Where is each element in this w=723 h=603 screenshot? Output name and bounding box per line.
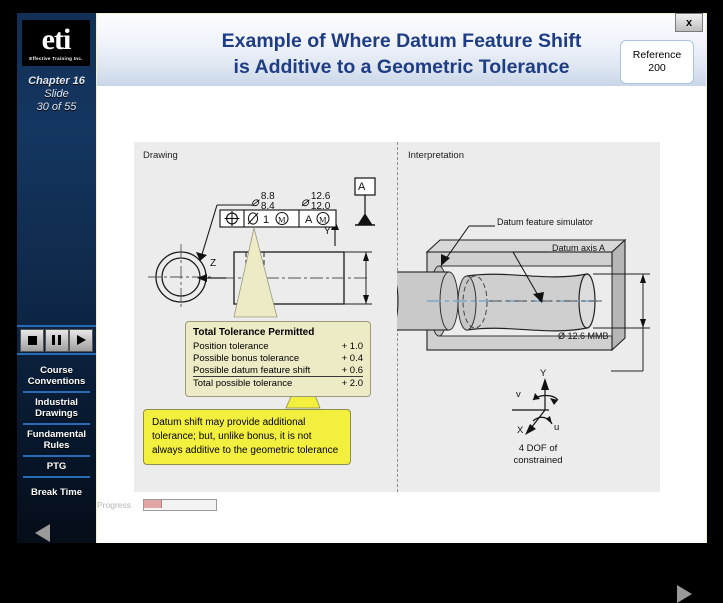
sidebar-item-ptg[interactable]: PTG [17, 457, 96, 478]
tolerance-value: + 0.4 [323, 352, 363, 364]
tolerance-label: Possible bonus tolerance [193, 352, 323, 364]
diameter-symbol-icon: ⌀ [301, 194, 309, 210]
callout-datum-feature-simulator: Datum feature simulator [497, 217, 593, 227]
chapter-info: Chapter 16 Slide 30 of 55 [17, 75, 96, 114]
total-tolerance-callout: Total Tolerance Permitted Position toler… [185, 321, 371, 397]
pause-icon [52, 335, 61, 345]
diameter-symbol-icon: ⌀ [251, 194, 259, 210]
slide-position: 30 of 55 [17, 101, 96, 114]
play-icon [77, 335, 86, 345]
sidebar-item-course-conventions[interactable]: Course Conventions [17, 361, 96, 393]
play-button[interactable] [69, 329, 93, 352]
progress-area: Progress [97, 500, 706, 514]
chapter-label: Chapter 16 [17, 75, 96, 88]
eti-logo: eti Effective Training Inc. [22, 20, 90, 66]
interpretation-view [397, 142, 660, 492]
slide-header: Example of Where Datum Feature Shift is … [97, 14, 706, 87]
tolerance-value: + 0.6 [323, 364, 363, 377]
sidebar-item-label: PTG [17, 457, 96, 476]
dof-caption: 4 DOF of constrained [488, 443, 588, 467]
datum-feature-label-a: A [358, 181, 365, 193]
table-row: Possible datum feature shift + 0.6 [193, 364, 363, 377]
datum-shift-note: Datum shift may provide additional toler… [143, 409, 351, 465]
tolerance-total-label: Total possible tolerance [193, 377, 323, 390]
sidebar-item-industrial-drawings[interactable]: Industrial Drawings [17, 393, 96, 425]
sidebar-item-label: Industrial Drawings [17, 393, 96, 423]
tolerance-total-value: + 2.0 [323, 377, 363, 390]
slide-body: Drawing Interpretation [97, 86, 706, 543]
divider [23, 476, 90, 478]
transport-controls [17, 325, 96, 355]
sidebar-item-label: Fundamental Rules [17, 425, 96, 455]
table-row: Possible bonus tolerance + 0.4 [193, 352, 363, 364]
page-title: Example of Where Datum Feature Shift is … [97, 28, 706, 80]
stop-icon [28, 336, 37, 345]
reference-badge[interactable]: Reference 200 [620, 40, 694, 84]
callout-datum-axis-a: Datum axis A [552, 243, 605, 253]
sidebar: eti Effective Training Inc. Chapter 16 S… [17, 13, 97, 543]
tolerance-label: Position tolerance [193, 340, 323, 352]
hole-diameter-dimension: ⌀ 8.8 8.4 [251, 192, 275, 212]
previous-slide-arrow-icon[interactable] [35, 524, 50, 542]
close-button[interactable]: x [675, 13, 703, 32]
leader-arrowhead [196, 252, 207, 261]
axis-label-z: Z [210, 258, 216, 269]
dof-caption-line-2: constrained [488, 455, 588, 467]
dof-caption-line-1: 4 DOF of [488, 443, 588, 455]
dof-axis-label-v: v [516, 389, 521, 400]
tolerance-label: Possible datum feature shift [193, 364, 323, 377]
dof-axis-label-y: Y [540, 368, 546, 379]
svg-text:1: 1 [263, 214, 269, 226]
dof-axis-label-x: X [517, 425, 523, 436]
next-slide-arrow-icon[interactable] [677, 585, 692, 603]
progress-fill [144, 500, 162, 508]
sidebar-item-fundamental-rules[interactable]: Fundamental Rules [17, 425, 96, 457]
slide-word: Slide [17, 88, 96, 101]
title-line-1: Example of Where Datum Feature Shift [97, 28, 706, 54]
svg-text:M: M [319, 215, 327, 225]
callout-heading: Total Tolerance Permitted [193, 327, 363, 338]
sidebar-item-break-time[interactable]: Break Time [17, 483, 96, 502]
svg-text:M: M [278, 215, 286, 225]
shaft-diameter-dimension: ⌀ 12.6 12.0 [301, 192, 330, 212]
progress-label: Progress [97, 500, 131, 510]
mmb-dimension-label: Ø 12.6 MMB [558, 331, 609, 341]
reference-label: Reference [633, 49, 681, 62]
toleranced-feature-body [458, 274, 595, 331]
logo-tagline: Effective Training Inc. [29, 56, 82, 61]
shaft-dia-lower: 12.0 [311, 202, 330, 212]
reference-number: 200 [648, 62, 666, 75]
sidebar-item-label: Course Conventions [17, 361, 96, 391]
axis-label-y: Y [324, 226, 331, 237]
hole-dia-lower: 8.4 [261, 202, 275, 212]
dof-axis-label-u: u [554, 422, 559, 433]
illustration-panels: Drawing Interpretation [134, 142, 660, 492]
pause-button[interactable] [45, 329, 69, 352]
close-icon: x [686, 17, 692, 29]
stop-button[interactable] [20, 329, 44, 352]
tolerance-value: + 1.0 [323, 340, 363, 352]
logo-wordmark: eti [42, 25, 71, 55]
table-row: Position tolerance + 1.0 [193, 340, 363, 352]
svg-text:A: A [305, 214, 313, 226]
tolerance-table: Position tolerance + 1.0 Possible bonus … [193, 340, 363, 390]
title-line-2: is Additive to a Geometric Tolerance [97, 54, 706, 80]
table-row-total: Total possible tolerance + 2.0 [193, 377, 363, 390]
progress-bar[interactable] [143, 499, 217, 511]
slide-stage: Example of Where Datum Feature Shift is … [96, 13, 707, 543]
sidebar-item-label: Break Time [17, 483, 96, 502]
course-player-window: eti Effective Training Inc. Chapter 16 S… [0, 0, 723, 574]
